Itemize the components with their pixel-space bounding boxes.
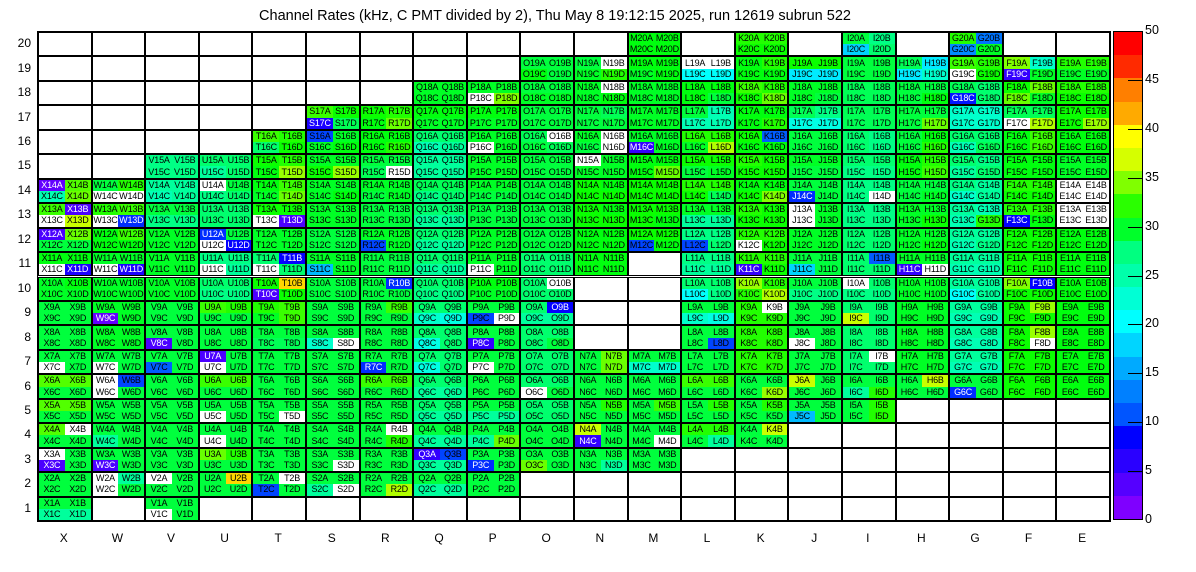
channel-o12c: O12C — [521, 240, 547, 251]
channel-n15c: N15C — [575, 166, 601, 177]
channel-h16d: H16D — [922, 142, 948, 153]
channel-k19c: K19C — [736, 69, 762, 80]
channel-v13c: V13C — [146, 215, 172, 226]
channel-k9b: K9B — [762, 302, 788, 313]
channel-r14a: R14A — [361, 180, 387, 191]
channel-r5a: R5A — [361, 400, 387, 411]
channel-j8a: J8A — [789, 326, 815, 337]
heatmap-cell: I17AI17BI17CI17D — [842, 105, 896, 129]
channel-o10a: O10A — [521, 278, 547, 289]
channel-k17c: K17C — [736, 118, 762, 129]
heatmap-cell: I15AI15BI15CI15D — [842, 154, 896, 178]
channel-l15a: L15A — [682, 155, 708, 166]
channel-h9a: H9A — [897, 302, 923, 313]
channel-u7b: U7B — [226, 351, 252, 362]
heatmap-cell: L19AL19BL19CL19D — [681, 56, 735, 80]
heatmap-cell: V14AV14BV14CV14D — [145, 179, 199, 203]
heatmap-cell: K17AK17BK17CK17D — [735, 105, 789, 129]
channel-t9d: T9D — [279, 313, 305, 324]
channel-g13b: G13B — [976, 204, 1002, 215]
channel-i6b: I6B — [869, 375, 895, 386]
colorbar-tick-0: 0 — [1145, 513, 1152, 526]
channel-m16d: M16D — [654, 142, 680, 153]
channel-k18a: K18A — [736, 82, 762, 93]
colorbar-band — [1114, 171, 1142, 194]
channel-u13d: U13D — [226, 215, 252, 226]
heatmap-cell: H9AH9BH9CH9D — [896, 301, 950, 325]
channel-k6a: K6A — [736, 375, 762, 386]
channel-r4c: R4C — [361, 435, 387, 446]
heatmap-cell: O5AO5BO5CO5D — [520, 399, 574, 423]
channel-p10c: P10C — [468, 289, 494, 300]
channel-s10a: S10A — [307, 278, 333, 289]
channel-k11c: K11C — [736, 264, 762, 275]
channel-r15d: R15D — [386, 166, 412, 177]
heatmap-cell: T16AT16BT16CT16D — [252, 130, 306, 154]
channel-t8d: T8D — [279, 338, 305, 349]
channel-q16c: Q16C — [414, 142, 440, 153]
channel-w14d: W14D — [118, 191, 144, 202]
heatmap-cell-empty — [628, 497, 682, 521]
channel-r16d: R16D — [386, 142, 412, 153]
heatmap-cell: Q7AQ7BQ7CQ7D — [413, 350, 467, 374]
channel-v5b: V5B — [172, 400, 198, 411]
channel-w3a: W3A — [93, 449, 119, 460]
channel-n7c: N7C — [575, 362, 601, 373]
heatmap-cell: Q16AQ16BQ16CQ16D — [413, 130, 467, 154]
channel-u3c: U3C — [200, 460, 226, 471]
channel-p18c: P18C — [468, 93, 494, 104]
channel-e18a: E18A — [1057, 82, 1083, 93]
channel-r5b: R5B — [386, 400, 412, 411]
channel-g9d: G9D — [976, 313, 1002, 324]
channel-x8c: X8C — [39, 338, 65, 349]
channel-q5a: Q5A — [414, 400, 440, 411]
heatmap-cell-empty — [842, 472, 896, 496]
x-axis-tick-R: R — [359, 532, 413, 544]
heatmap-cell-empty — [199, 32, 253, 56]
heatmap-cell: I19AI19BI19CI19D — [842, 56, 896, 80]
channel-l12b: L12B — [708, 229, 734, 240]
heatmap-cell: W11AW11BW11CW11D — [92, 252, 146, 276]
channel-k15d: K15D — [762, 166, 788, 177]
channel-i14d: I14D — [869, 191, 895, 202]
channel-f16d: F16D — [1030, 142, 1056, 153]
channel-o9c: O9C — [521, 313, 547, 324]
channel-x2a: X2A — [39, 473, 65, 484]
channel-h9c: H9C — [897, 313, 923, 324]
channel-o9a: O9A — [521, 302, 547, 313]
heatmap-cell: K16AK16BK16CK16D — [735, 130, 789, 154]
x-axis-tick-O: O — [519, 532, 573, 544]
channel-l9d: L9D — [708, 313, 734, 324]
channel-j19b: J19B — [815, 57, 841, 68]
heatmap-cell: O9AO9BO9CO9D — [520, 301, 574, 325]
channel-q4b: Q4B — [440, 424, 466, 435]
channel-w11d: W11D — [118, 264, 144, 275]
channel-m4b: M4B — [654, 424, 680, 435]
channel-p7b: P7B — [494, 351, 520, 362]
heatmap-cell-empty — [199, 130, 253, 154]
channel-n3d: N3D — [601, 460, 627, 471]
channel-h13d: H13D — [922, 215, 948, 226]
channel-u4d: U4D — [226, 435, 252, 446]
channel-h16b: H16B — [922, 131, 948, 142]
channel-l10a: L10A — [682, 278, 708, 289]
heatmap-cell: L9AL9BL9CL9D — [681, 301, 735, 325]
channel-o18d: O18D — [547, 93, 573, 104]
heatmap-cell: G16AG16BG16CG16D — [949, 130, 1003, 154]
channel-q12c: Q12C — [414, 240, 440, 251]
channel-j13a: J13A — [789, 204, 815, 215]
channel-q13c: Q13C — [414, 215, 440, 226]
channel-m13d: M13D — [654, 215, 680, 226]
channel-n11a: N11A — [575, 253, 601, 264]
channel-s5a: S5A — [307, 400, 333, 411]
channel-u15a: U15A — [200, 155, 226, 166]
heatmap-cell-empty — [92, 130, 146, 154]
channel-m17a: M17A — [629, 106, 655, 117]
channel-f7c: F7C — [1004, 362, 1030, 373]
channel-f13c: F13C — [1004, 215, 1030, 226]
heatmap-cell: H19AH19BH19CH19D — [896, 56, 950, 80]
channel-q3a: Q3A — [414, 449, 440, 460]
channel-x1a: X1A — [39, 498, 65, 509]
colorbar-tick-5: 5 — [1145, 464, 1152, 477]
channel-m6a: M6A — [629, 375, 655, 386]
heatmap-cell-empty — [896, 399, 950, 423]
channel-w6b: W6B — [118, 375, 144, 386]
channel-j11a: J11A — [789, 253, 815, 264]
channel-n13b: N13B — [601, 204, 627, 215]
heatmap-cell: R10AR10BR10CR10D — [360, 277, 414, 301]
channel-h11b: H11B — [922, 253, 948, 264]
channel-q2a: Q2A — [414, 473, 440, 484]
channel-g14d: G14D — [976, 191, 1002, 202]
heatmap-cell: V10AV10BV10CV10D — [145, 277, 199, 301]
channel-l4a: L4A — [682, 424, 708, 435]
channel-q17d: Q17D — [440, 118, 466, 129]
heatmap-cell: P2AP2BP2CP2D — [467, 472, 521, 496]
channel-t16d: T16D — [279, 142, 305, 153]
channel-w3d: W3D — [118, 460, 144, 471]
channel-k15b: K15B — [762, 155, 788, 166]
channel-k9a: K9A — [736, 302, 762, 313]
channel-e9b: E9B — [1083, 302, 1109, 313]
colorbar-tick-25: 25 — [1145, 269, 1159, 282]
channel-u14a: U14A — [200, 180, 226, 191]
channel-k13c: K13C — [736, 215, 762, 226]
channel-v15a: V15A — [146, 155, 172, 166]
channel-w13a: W13A — [93, 204, 119, 215]
channel-e7c: E7C — [1057, 362, 1083, 373]
channel-h17d: H17D — [922, 118, 948, 129]
channel-f15c: F15C — [1004, 166, 1030, 177]
heatmap-cell: V9AV9BV9CV9D — [145, 301, 199, 325]
channel-l19a: L19A — [682, 57, 708, 68]
channel-t11b: T11B — [279, 253, 305, 264]
channel-e13c: E13C — [1057, 215, 1083, 226]
channel-g6c: G6C — [950, 387, 976, 398]
heatmap-cell-empty — [896, 472, 950, 496]
channel-t8c: T8C — [253, 338, 279, 349]
heatmap-cell: G12AG12BG12CG12D — [949, 228, 1003, 252]
heatmap-cell-empty — [38, 56, 92, 80]
channel-m5b: M5B — [654, 400, 680, 411]
channel-s13d: S13D — [333, 215, 359, 226]
channel-f8b: F8B — [1030, 326, 1056, 337]
heatmap-cell: U5AU5BU5CU5D — [199, 399, 253, 423]
channel-g16d: G16D — [976, 142, 1002, 153]
heatmap-cell: S15AS15BS15CS15D — [306, 154, 360, 178]
channel-s10d: S10D — [333, 289, 359, 300]
channel-k4c: K4C — [736, 435, 762, 446]
heatmap-cell: Q4AQ4BQ4CQ4D — [413, 423, 467, 447]
channel-k14d: K14D — [762, 191, 788, 202]
channel-f18a: F18A — [1004, 82, 1030, 93]
channel-r5c: R5C — [361, 411, 387, 422]
channel-w2d: W2D — [118, 484, 144, 495]
y-axis-tick-1: 1 — [3, 502, 31, 514]
channel-n7d: N7D — [601, 362, 627, 373]
channel-t6c: T6C — [253, 387, 279, 398]
channel-x14b: X14B — [65, 180, 91, 191]
channel-f9c: F9C — [1004, 313, 1030, 324]
heatmap-cell: E6AE6BE6CE6D — [1056, 374, 1110, 398]
colorbar-tickmark — [1128, 227, 1143, 228]
channel-o6b: O6B — [547, 375, 573, 386]
heatmap-cell: R7AR7BR7CR7D — [360, 350, 414, 374]
channel-k11a: K11A — [736, 253, 762, 264]
heatmap-cell: Q12AQ12BQ12CQ12D — [413, 228, 467, 252]
channel-k16a: K16A — [736, 131, 762, 142]
channel-g11a: G11A — [950, 253, 976, 264]
channel-s17c: S17C — [307, 118, 333, 129]
channel-h14c: H14C — [897, 191, 923, 202]
channel-e14d: E14D — [1083, 191, 1109, 202]
heatmap-cell: Q8AQ8BQ8CQ8D — [413, 325, 467, 349]
channel-f6c: F6C — [1004, 387, 1030, 398]
channel-r7b: R7B — [386, 351, 412, 362]
channel-j11c: J11C — [789, 264, 815, 275]
channel-n5a: N5A — [575, 400, 601, 411]
heatmap-cell: I18AI18BI18CI18D — [842, 81, 896, 105]
channel-h11c: H11C — [897, 264, 923, 275]
channel-q4a: Q4A — [414, 424, 440, 435]
colorbar-tickmark — [1128, 422, 1143, 423]
heatmap-cell: G10AG10BG10CG10D — [949, 277, 1003, 301]
channel-p12a: P12A — [468, 229, 494, 240]
colorbar-band — [1114, 32, 1142, 55]
channel-h8a: H8A — [897, 326, 923, 337]
channel-u7d: U7D — [226, 362, 252, 373]
channel-g15b: G15B — [976, 155, 1002, 166]
channel-w7c: W7C — [93, 362, 119, 373]
channel-m18a: M18A — [629, 82, 655, 93]
channel-r11c: R11C — [361, 264, 387, 275]
heatmap-cell: N13AN13BN13CN13D — [574, 203, 628, 227]
channel-i18a: I18A — [843, 82, 869, 93]
channel-u13c: U13C — [200, 215, 226, 226]
channel-q18a: Q18A — [414, 82, 440, 93]
channel-j6c: J6C — [789, 387, 815, 398]
channel-m5c: M5C — [629, 411, 655, 422]
heatmap-cell-empty — [92, 81, 146, 105]
channel-i5d: I5D — [869, 411, 895, 422]
channel-j18b: J18B — [815, 82, 841, 93]
channel-k12c: K12C — [736, 240, 762, 251]
channel-s6c: S6C — [307, 387, 333, 398]
heatmap-cell: K12AK12BK12CK12D — [735, 228, 789, 252]
channel-f11a: F11A — [1004, 253, 1030, 264]
channel-n16b: N16B — [601, 131, 627, 142]
channel-e15b: E15B — [1083, 155, 1109, 166]
channel-l17d: L17D — [708, 118, 734, 129]
channel-j9c: J9C — [789, 313, 815, 324]
channel-s17a: S17A — [307, 106, 333, 117]
channel-p8b: P8B — [494, 326, 520, 337]
channel-f6d: F6D — [1030, 387, 1056, 398]
channel-v9b: V9B — [172, 302, 198, 313]
heatmap-cell-empty — [949, 423, 1003, 447]
channel-t6a: T6A — [253, 375, 279, 386]
heatmap-cell-empty — [574, 277, 628, 301]
heatmap-cell-empty — [628, 301, 682, 325]
channel-h14d: H14D — [922, 191, 948, 202]
channel-l10d: L10D — [708, 289, 734, 300]
channel-j13b: J13B — [815, 204, 841, 215]
heatmap-cell: O3AO3BO3CO3D — [520, 448, 574, 472]
channel-h19b: H19B — [922, 57, 948, 68]
heatmap-cell: R2AR2BR2CR2D — [360, 472, 414, 496]
channel-k19d: K19D — [762, 69, 788, 80]
channel-o16d: O16D — [547, 142, 573, 153]
channel-i18d: I18D — [869, 93, 895, 104]
channel-v4c: V4C — [146, 435, 172, 446]
channel-f9b: F9B — [1030, 302, 1056, 313]
colorbar-band — [1114, 426, 1142, 449]
x-axis-tick-E: E — [1055, 532, 1109, 544]
heatmap-cell: F12AF12BF12CF12D — [1003, 228, 1057, 252]
heatmap-cell-empty — [92, 105, 146, 129]
channel-j17d: J17D — [815, 118, 841, 129]
channel-r8b: R8B — [386, 326, 412, 337]
channel-r2b: R2B — [386, 473, 412, 484]
channel-r3b: R3B — [386, 449, 412, 460]
channel-g12b: G12B — [976, 229, 1002, 240]
heatmap-cell: L11AL11BL11CL11D — [681, 252, 735, 276]
channel-j10c: J10C — [789, 289, 815, 300]
channel-j13c: J13C — [789, 215, 815, 226]
heatmap-cell: V3AV3BV3CV3D — [145, 448, 199, 472]
channel-f13d: F13D — [1030, 215, 1056, 226]
heatmap-cell-empty — [360, 56, 414, 80]
channel-p9c: P9C — [468, 313, 494, 324]
channel-h8b: H8B — [922, 326, 948, 337]
channel-f6b: F6B — [1030, 375, 1056, 386]
channel-x2c: X2C — [39, 484, 65, 495]
channel-q12d: Q12D — [440, 240, 466, 251]
channel-f11d: F11D — [1030, 264, 1056, 275]
channel-x9b: X9B — [65, 302, 91, 313]
channel-e17a: E17A — [1057, 106, 1083, 117]
channel-s7b: S7B — [333, 351, 359, 362]
heatmap-cell: S12AS12BS12CS12D — [306, 228, 360, 252]
channel-g13c: G13C — [950, 215, 976, 226]
channel-j17c: J17C — [789, 118, 815, 129]
page-title: Channel Rates (kHz, C PMT divided by 2),… — [0, 8, 1110, 24]
channel-q6a: Q6A — [414, 375, 440, 386]
channel-o11a: O11A — [521, 253, 547, 264]
channel-m7b: M7B — [654, 351, 680, 362]
channel-v1c: V1C — [146, 509, 172, 520]
heatmap-cell: G15AG15BG15CG15D — [949, 154, 1003, 178]
channel-l5c: L5C — [682, 411, 708, 422]
channel-t15a: T15A — [253, 155, 279, 166]
channel-m19d: M19D — [654, 69, 680, 80]
channel-l14b: L14B — [708, 180, 734, 191]
heatmap-cell: T15AT15BT15CT15D — [252, 154, 306, 178]
channel-o6c: O6C — [521, 387, 547, 398]
channel-x12b: X12B — [65, 229, 91, 240]
heatmap-cell-empty — [145, 56, 199, 80]
channel-w6d: W6D — [118, 387, 144, 398]
channel-u8d: U8D — [226, 338, 252, 349]
channel-s13b: S13B — [333, 204, 359, 215]
channel-f12d: F12D — [1030, 240, 1056, 251]
channel-w2b: W2B — [118, 473, 144, 484]
heatmap-cell: J17AJ17BJ17CJ17D — [788, 105, 842, 129]
y-axis-tick-9: 9 — [3, 306, 31, 318]
channel-t10a: T10A — [253, 278, 279, 289]
heatmap-cell: M5AM5BM5CM5D — [628, 399, 682, 423]
channel-u7c: U7C — [200, 362, 226, 373]
channel-m14c: M14C — [629, 191, 655, 202]
y-axis-tick-19: 19 — [3, 62, 31, 74]
channel-p8c: P8C — [468, 338, 494, 349]
channel-j16a: J16A — [789, 131, 815, 142]
heatmap-cell-empty — [735, 472, 789, 496]
channel-x8b: X8B — [65, 326, 91, 337]
y-axis-tick-10: 10 — [3, 282, 31, 294]
channel-m7a: M7A — [629, 351, 655, 362]
channel-o17b: O17B — [547, 106, 573, 117]
heatmap-cell: U9AU9BU9CU9D — [199, 301, 253, 325]
channel-v6b: V6B — [172, 375, 198, 386]
channel-s11b: S11B — [333, 253, 359, 264]
heatmap-cell: O16AO16BO16CO16D — [520, 130, 574, 154]
channel-i13d: I13D — [869, 215, 895, 226]
channel-u6b: U6B — [226, 375, 252, 386]
channel-r3d: R3D — [386, 460, 412, 471]
channel-e16b: E16B — [1083, 131, 1109, 142]
channel-r16b: R16B — [386, 131, 412, 142]
channel-k16c: K16C — [736, 142, 762, 153]
channel-e9c: E9C — [1057, 313, 1083, 324]
channel-f11c: F11C — [1004, 264, 1030, 275]
channel-o19d: O19D — [547, 69, 573, 80]
channel-u6d: U6D — [226, 387, 252, 398]
heatmap-cell: J14AJ14BJ14CJ14D — [788, 179, 842, 203]
heatmap-cell: M3AM3BM3CM3D — [628, 448, 682, 472]
channel-j7a: J7A — [789, 351, 815, 362]
heatmap-cell: Q18AQ18BQ18CQ18D — [413, 81, 467, 105]
channel-p11a: P11A — [468, 253, 494, 264]
channel-p11d: P11D — [494, 264, 520, 275]
channel-e14b: E14B — [1083, 180, 1109, 191]
channel-f10a: F10A — [1004, 278, 1030, 289]
heatmap-cell-empty — [949, 497, 1003, 521]
